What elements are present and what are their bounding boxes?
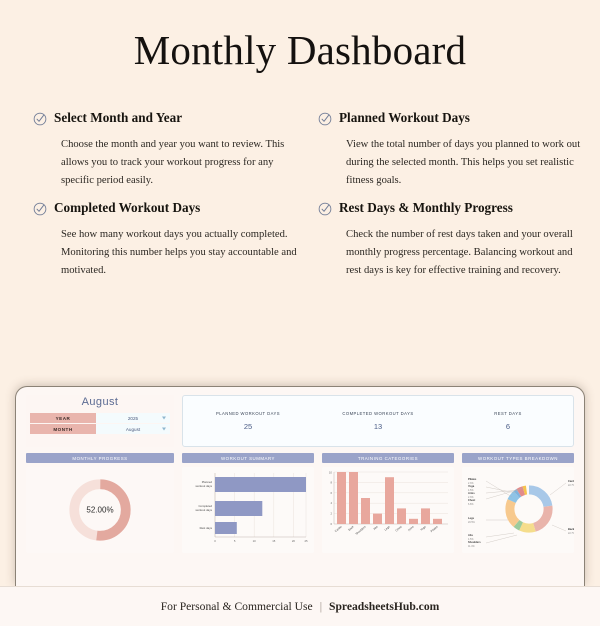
feature-title: Completed Workout Days: [54, 201, 200, 216]
month-row: MONTH August: [30, 424, 170, 435]
svg-text:11.4%: 11.4%: [468, 545, 475, 548]
svg-text:6: 6: [330, 491, 332, 495]
svg-text:22.7%: 22.7%: [568, 532, 574, 535]
feature-card-completed-workout-days: Completed Workout Days See how many work…: [33, 201, 305, 281]
workout-summary-bar-chart: Planned workout days Completed workout d…: [182, 467, 314, 553]
year-value: 2025: [128, 416, 138, 421]
svg-text:5: 5: [234, 539, 236, 543]
feature-card-select-month-year: Select Month and Year Choose the month a…: [33, 111, 305, 191]
svg-text:0: 0: [330, 522, 332, 526]
dashboard-top-strip: August YEAR 2025 MONTH August: [26, 395, 574, 447]
svg-text:Shoulders: Shoulders: [468, 540, 481, 544]
svg-text:8: 8: [330, 480, 332, 484]
svg-text:Chest: Chest: [394, 525, 402, 533]
svg-text:Rest days: Rest days: [200, 526, 213, 530]
svg-text:2: 2: [330, 512, 332, 516]
svg-text:Legs: Legs: [383, 524, 391, 531]
month-label: MONTH: [30, 424, 96, 435]
stat-value: 25: [244, 422, 252, 431]
section-header-monthly-progress: MONTHLY PROGRESS: [26, 453, 174, 463]
svg-text:Legs: Legs: [468, 516, 475, 520]
features-grid: Select Month and Year Choose the month a…: [0, 74, 600, 280]
chevron-down-icon[interactable]: [162, 417, 166, 420]
chart-monthly-progress: 52.00%: [26, 467, 174, 553]
year-select[interactable]: 2025: [96, 413, 170, 424]
svg-text:Arms: Arms: [407, 524, 415, 532]
footer-site-link[interactable]: SpreadsheetsHub.com: [329, 600, 439, 613]
footer: For Personal & Commercial Use | Spreadsh…: [0, 586, 600, 626]
chart-training-categories: 0 2 4 6 8 10 Cardio Back Shoulders Abs L…: [322, 467, 454, 553]
svg-text:Abs: Abs: [372, 524, 379, 531]
svg-text:20: 20: [292, 539, 296, 543]
month-value: August: [126, 427, 140, 432]
feature-body: View the total number of days you planne…: [318, 131, 590, 191]
svg-text:15: 15: [272, 539, 276, 543]
feature-heading: Select Month and Year: [33, 111, 305, 131]
check-circle-icon: [318, 202, 332, 221]
feature-body: Check the number of rest days taken and …: [318, 221, 590, 281]
svg-text:25: 25: [304, 539, 308, 543]
feature-body: See how many workout days you actually c…: [33, 221, 305, 281]
svg-text:6.8%: 6.8%: [468, 503, 474, 506]
feature-heading: Planned Workout Days: [318, 111, 590, 131]
svg-text:20.5%: 20.5%: [468, 521, 476, 524]
chevron-down-icon[interactable]: [162, 428, 166, 431]
section-header-workout-types-breakdown: WORKOUT TYPES BREAKDOWN: [462, 453, 574, 463]
training-categories-bar-chart: 0 2 4 6 8 10 Cardio Back Shoulders Abs L…: [322, 467, 454, 553]
charts-row: 52.00%: [26, 467, 574, 553]
stat-label: COMPLETED WORKOUT DAYS: [342, 411, 413, 416]
stat-planned-workout-days: PLANNED WORKOUT DAYS 25: [183, 396, 313, 446]
svg-text:Cardio: Cardio: [334, 524, 343, 533]
svg-text:Pilates: Pilates: [430, 524, 439, 533]
svg-text:Arms: Arms: [468, 491, 475, 495]
svg-text:10: 10: [253, 539, 257, 543]
svg-text:22.7%: 22.7%: [568, 484, 574, 487]
stat-value: 6: [506, 422, 510, 431]
svg-text:4: 4: [330, 501, 332, 505]
feature-heading: Completed Workout Days: [33, 201, 305, 221]
year-month-table: YEAR 2025 MONTH August: [30, 413, 170, 435]
footer-usage-text: For Personal & Commercial Use: [161, 600, 313, 613]
progress-percentage: 52.00%: [86, 506, 113, 515]
section-header-workout-summary: WORKOUT SUMMARY: [182, 453, 314, 463]
check-circle-icon: [33, 202, 47, 221]
check-circle-icon: [318, 112, 332, 131]
feature-title: Select Month and Year: [54, 111, 182, 126]
stat-value: 13: [374, 422, 382, 431]
svg-text:Yoga: Yoga: [419, 524, 427, 531]
svg-text:workout days: workout days: [196, 484, 213, 488]
stat-label: REST DAYS: [494, 411, 521, 416]
year-label: YEAR: [30, 413, 96, 424]
svg-text:10: 10: [329, 471, 333, 475]
month-selector-panel: August YEAR 2025 MONTH August: [26, 395, 174, 447]
svg-text:Shoulders: Shoulders: [354, 524, 367, 536]
dashboard-card: August YEAR 2025 MONTH August: [15, 386, 585, 586]
svg-text:Yoga: Yoga: [468, 484, 475, 488]
selected-month-title: August: [82, 396, 119, 408]
section-header-training-categories: TRAINING CATEGORIES: [322, 453, 454, 463]
feature-card-rest-days-monthly-progress: Rest Days & Monthly Progress Check the n…: [318, 201, 590, 281]
check-circle-icon: [33, 112, 47, 131]
svg-text:Back: Back: [347, 524, 355, 531]
svg-text:Pilates: Pilates: [468, 477, 477, 481]
svg-text:Chest: Chest: [468, 498, 475, 502]
page-title: Monthly Dashboard: [0, 26, 600, 74]
stat-label: PLANNED WORKOUT DAYS: [216, 411, 280, 416]
feature-body: Choose the month and year you want to re…: [33, 131, 305, 191]
svg-text:workout days: workout days: [196, 508, 213, 512]
feature-heading: Rest Days & Monthly Progress: [318, 201, 590, 221]
svg-text:0: 0: [214, 539, 216, 543]
svg-text:Back: Back: [568, 527, 574, 531]
feature-title: Planned Workout Days: [339, 111, 470, 126]
dashboard-preview: August YEAR 2025 MONTH August: [0, 386, 600, 586]
stats-panel: PLANNED WORKOUT DAYS 25 COMPLETED WORKOU…: [182, 395, 574, 447]
footer-separator: |: [320, 600, 322, 613]
svg-text:Cardio: Cardio: [568, 479, 574, 483]
month-select[interactable]: August: [96, 424, 170, 435]
svg-text:Abs: Abs: [468, 533, 473, 537]
feature-card-planned-workout-days: Planned Workout Days View the total numb…: [318, 111, 590, 191]
year-row: YEAR 2025: [30, 413, 170, 424]
workout-types-donut-chart: Cardio 22.7% Back 22.7% Legs 20.5% Abs 4…: [462, 467, 574, 553]
stat-completed-workout-days: COMPLETED WORKOUT DAYS 13: [313, 396, 443, 446]
feature-title: Rest Days & Monthly Progress: [339, 201, 513, 216]
section-header-bars: MONTHLY PROGRESS WORKOUT SUMMARY TRAININ…: [26, 453, 574, 463]
stat-rest-days: REST DAYS 6: [443, 396, 573, 446]
chart-workout-summary: Planned workout days Completed workout d…: [182, 467, 314, 553]
chart-workout-types-breakdown: Cardio 22.7% Back 22.7% Legs 20.5% Abs 4…: [462, 467, 574, 553]
